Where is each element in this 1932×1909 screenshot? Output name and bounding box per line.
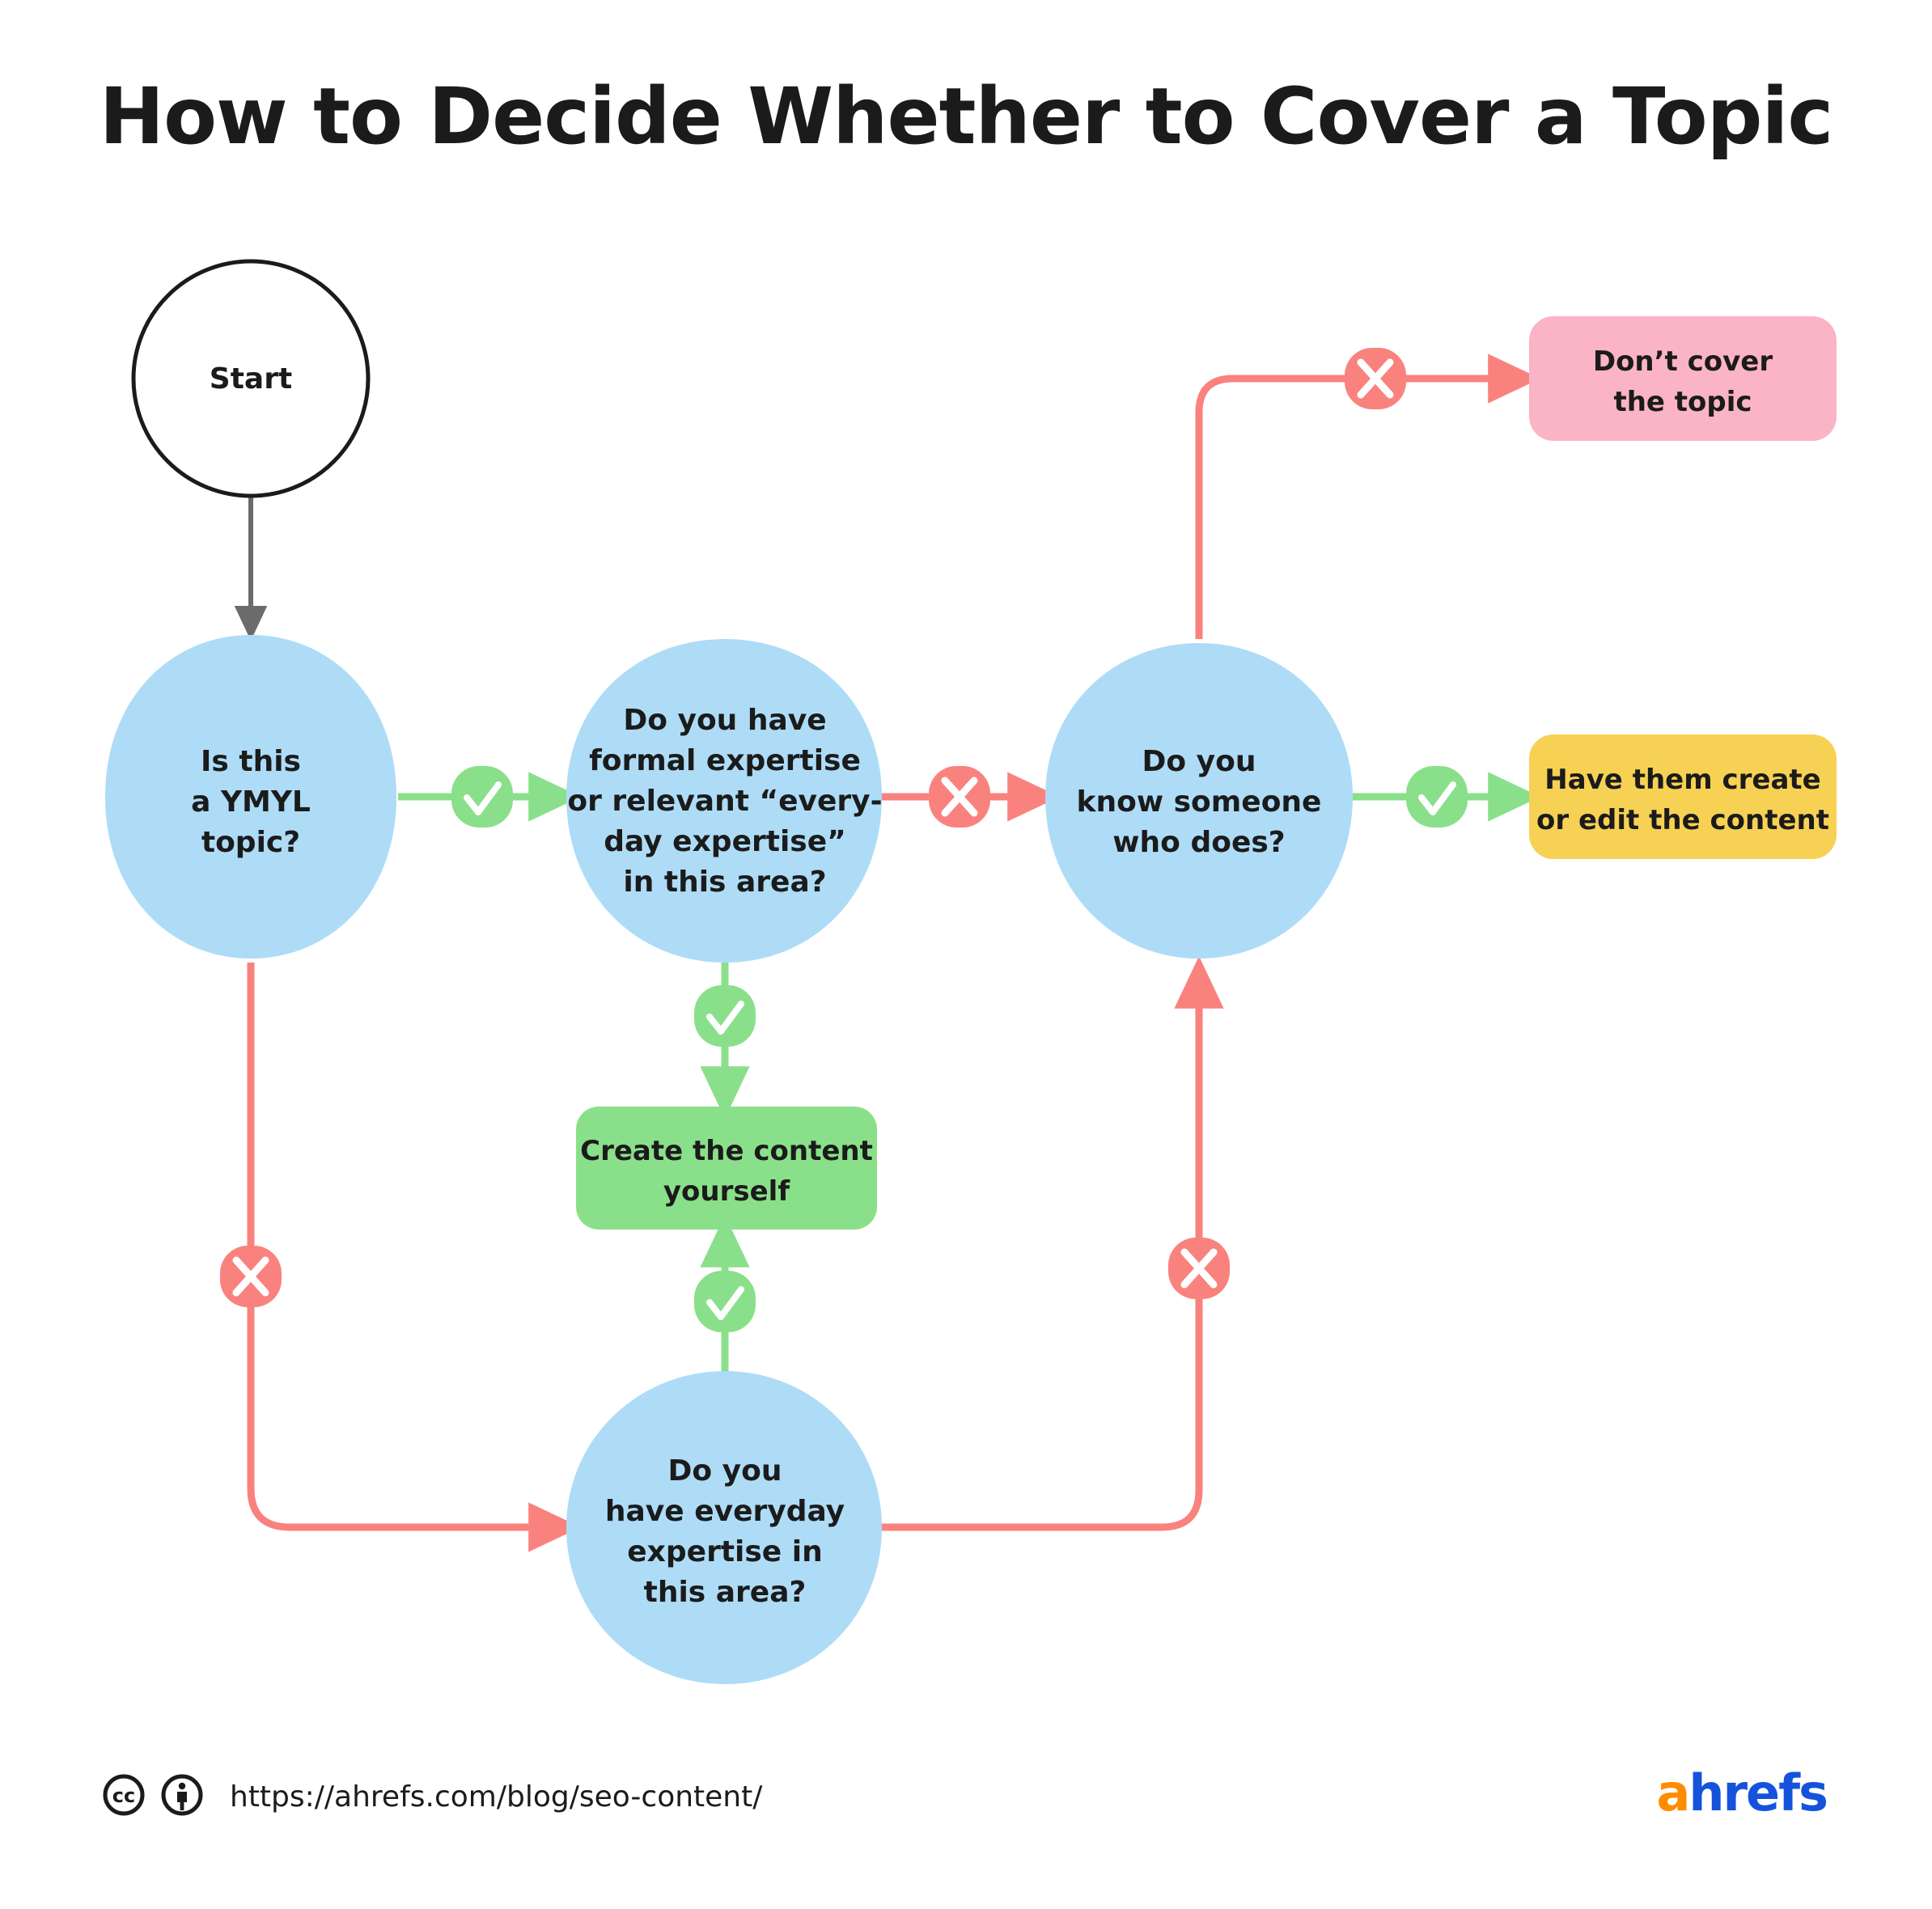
source-url: https://ahrefs.com/blog/seo-content/ <box>230 1780 762 1814</box>
badge-cross-know-someone-no <box>1345 348 1406 409</box>
creative-commons-icon: cc <box>102 1773 146 1820</box>
logo-letter-a: a <box>1657 1763 1689 1822</box>
outcome-dont-cover-line-0: Don’t cover <box>1593 345 1773 378</box>
decision-know-someone[interactable]: Do you know someone who does? <box>1045 643 1353 959</box>
decision-ymyl-topic[interactable]: Is this a YMYL topic? <box>105 635 396 959</box>
decision-formal-line-4: in this area? <box>623 866 826 899</box>
ahrefs-logo: ahrefs <box>1657 1768 1828 1818</box>
decision-ymyl-line-2: topic? <box>201 826 300 859</box>
svg-text:cc: cc <box>112 1784 135 1807</box>
decision-ymyl-line-1: a YMYL <box>191 785 311 819</box>
decision-know-someone-line-1: know someone <box>1077 785 1322 819</box>
decision-know-someone-line-0: Do you <box>1142 745 1256 778</box>
logo-letters-hrefs: hrefs <box>1688 1763 1827 1822</box>
badge-check-formal-yes <box>694 985 756 1047</box>
decision-everyday-line-2: expertise in <box>627 1535 822 1568</box>
badge-cross-formal-no <box>929 766 990 828</box>
decision-formal-line-2: or relevant “every- <box>567 785 882 818</box>
outcome-have-them-create[interactable]: Have them create or edit the content <box>1529 734 1837 859</box>
infographic-page: How to Decide Whether to Cover a Topic <box>0 0 1932 1909</box>
outcome-dont-cover[interactable]: Don’t cover the topic <box>1529 316 1837 441</box>
decision-everyday-expertise[interactable]: Do you have everyday expertise in this a… <box>566 1371 882 1684</box>
start-label: Start <box>210 362 292 396</box>
outcome-dont-cover-line-1: the topic <box>1613 386 1752 418</box>
outcome-have-them-line-1: or edit the content <box>1536 804 1829 836</box>
decision-formal-line-3: day expertise” <box>604 825 846 858</box>
outcome-create-yourself-line-1: yourself <box>663 1175 790 1208</box>
footer: cc https://ahrefs.com/blog/seo-content/ <box>102 1773 762 1820</box>
decision-know-someone-line-2: who does? <box>1112 826 1285 859</box>
decision-everyday-line-1: have everyday <box>605 1495 845 1528</box>
decision-formal-line-1: formal expertise <box>589 744 861 777</box>
decision-everyday-line-0: Do you <box>668 1454 782 1488</box>
edge-ymyl-no-to-everyday-expertise <box>251 963 566 1527</box>
edge-know-someone-no-to-dont-cover <box>1199 379 1526 639</box>
badge-cross-ymyl-no <box>220 1246 282 1307</box>
attribution-person-icon <box>160 1773 204 1820</box>
decision-everyday-line-3: this area? <box>644 1576 807 1609</box>
outcome-have-them-line-0: Have them create <box>1544 764 1820 796</box>
outcome-create-yourself-line-0: Create the content <box>580 1135 873 1167</box>
decision-ymyl-line-0: Is this <box>201 745 301 778</box>
flowchart-canvas: Don’t cover the topic Have them create o… <box>0 0 1932 1909</box>
outcome-create-yourself[interactable]: Create the content yourself <box>576 1107 877 1230</box>
badge-check-know-someone-yes <box>1406 766 1468 828</box>
decision-formal-expertise[interactable]: Do you have formal expertise or relevant… <box>566 639 883 963</box>
decision-formal-line-0: Do you have <box>623 704 826 737</box>
badge-check-ymyl-yes <box>451 766 513 828</box>
badge-cross-everyday-no <box>1168 1238 1230 1299</box>
edge-everyday-expertise-no-to-know-someone <box>875 971 1199 1527</box>
start-node[interactable]: Start <box>133 261 368 496</box>
badge-check-everyday-yes <box>694 1271 756 1332</box>
